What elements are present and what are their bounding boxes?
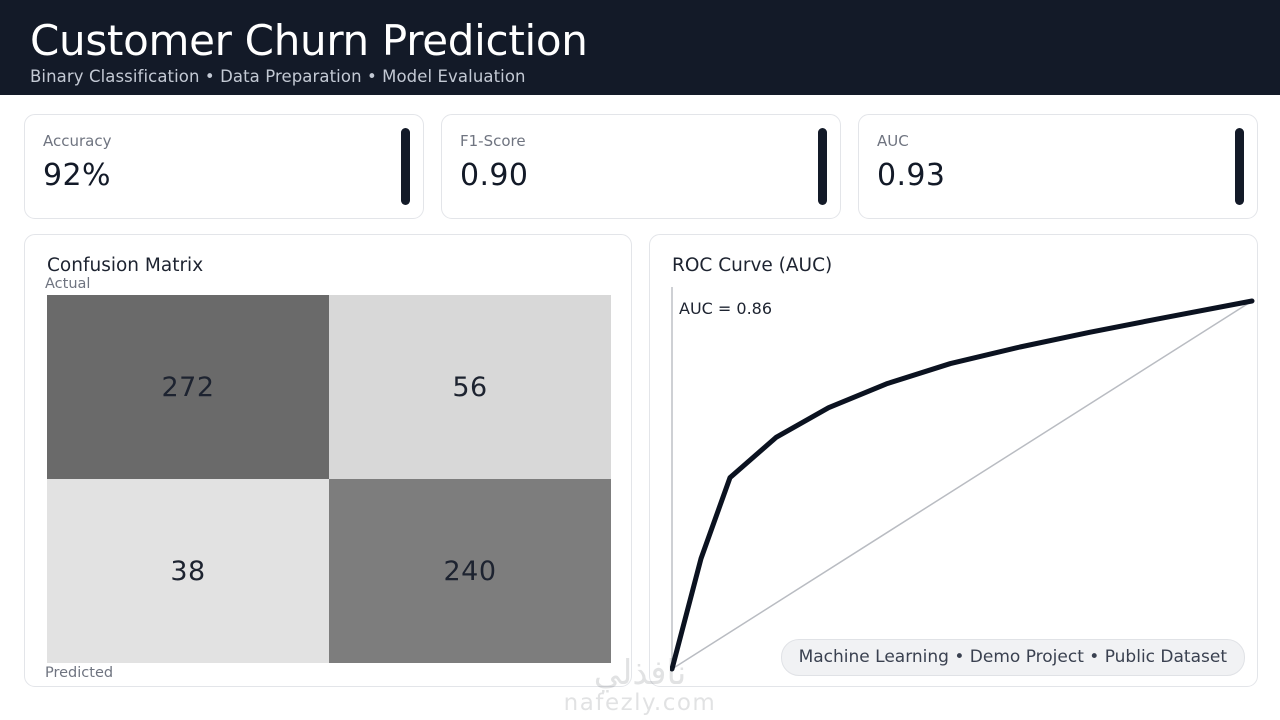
- confusion-cell-false-positive[interactable]: 56: [329, 295, 611, 479]
- confusion-matrix-title: Confusion Matrix: [47, 255, 203, 276]
- kpi-label: F1-Score: [460, 132, 820, 150]
- confusion-matrix-y-axis-label: Actual: [45, 276, 90, 292]
- confusion-cell-false-negative[interactable]: 38: [47, 479, 329, 663]
- kpi-label: Accuracy: [43, 132, 403, 150]
- kpi-label: AUC: [877, 132, 1237, 150]
- kpi-accent-bar: [1235, 128, 1244, 205]
- kpi-value: 0.90: [460, 158, 820, 193]
- roc-baseline-line: [672, 301, 1252, 669]
- kpi-card-accuracy[interactable]: Accuracy 92%: [24, 114, 424, 219]
- kpi-card-f1-score[interactable]: F1-Score 0.90: [441, 114, 841, 219]
- confusion-cell-true-negative[interactable]: 272: [47, 295, 329, 479]
- kpi-value: 0.93: [877, 158, 1237, 193]
- roc-curve-panel: ROC Curve (AUC) AUC = 0.86 Machine Learn…: [649, 234, 1258, 687]
- page-subtitle: Binary Classification • Data Preparation…: [30, 67, 1280, 86]
- roc-curve-title: ROC Curve (AUC): [672, 255, 832, 276]
- confusion-cell-true-positive[interactable]: 240: [329, 479, 611, 663]
- kpi-accent-bar: [401, 128, 410, 205]
- project-info-badge: Machine Learning • Demo Project • Public…: [781, 639, 1245, 676]
- watermark-domain-text: nafezly.com: [564, 690, 717, 716]
- page-header: Customer Churn Prediction Binary Classif…: [0, 0, 1280, 95]
- kpi-value: 92%: [43, 158, 403, 193]
- charts-row: Confusion Matrix Actual 272 56 38 240 Pr…: [0, 219, 1280, 687]
- page-title: Customer Churn Prediction: [30, 19, 1280, 63]
- kpi-card-auc[interactable]: AUC 0.93: [858, 114, 1258, 219]
- kpi-card-row: Accuracy 92% F1-Score 0.90 AUC 0.93: [0, 95, 1280, 219]
- roc-curve-plot: [670, 287, 1258, 687]
- confusion-matrix-grid: 272 56 38 240: [47, 295, 611, 663]
- confusion-matrix-panel: Confusion Matrix Actual 272 56 38 240 Pr…: [24, 234, 632, 687]
- kpi-accent-bar: [818, 128, 827, 205]
- confusion-matrix-x-axis-label: Predicted: [45, 665, 113, 681]
